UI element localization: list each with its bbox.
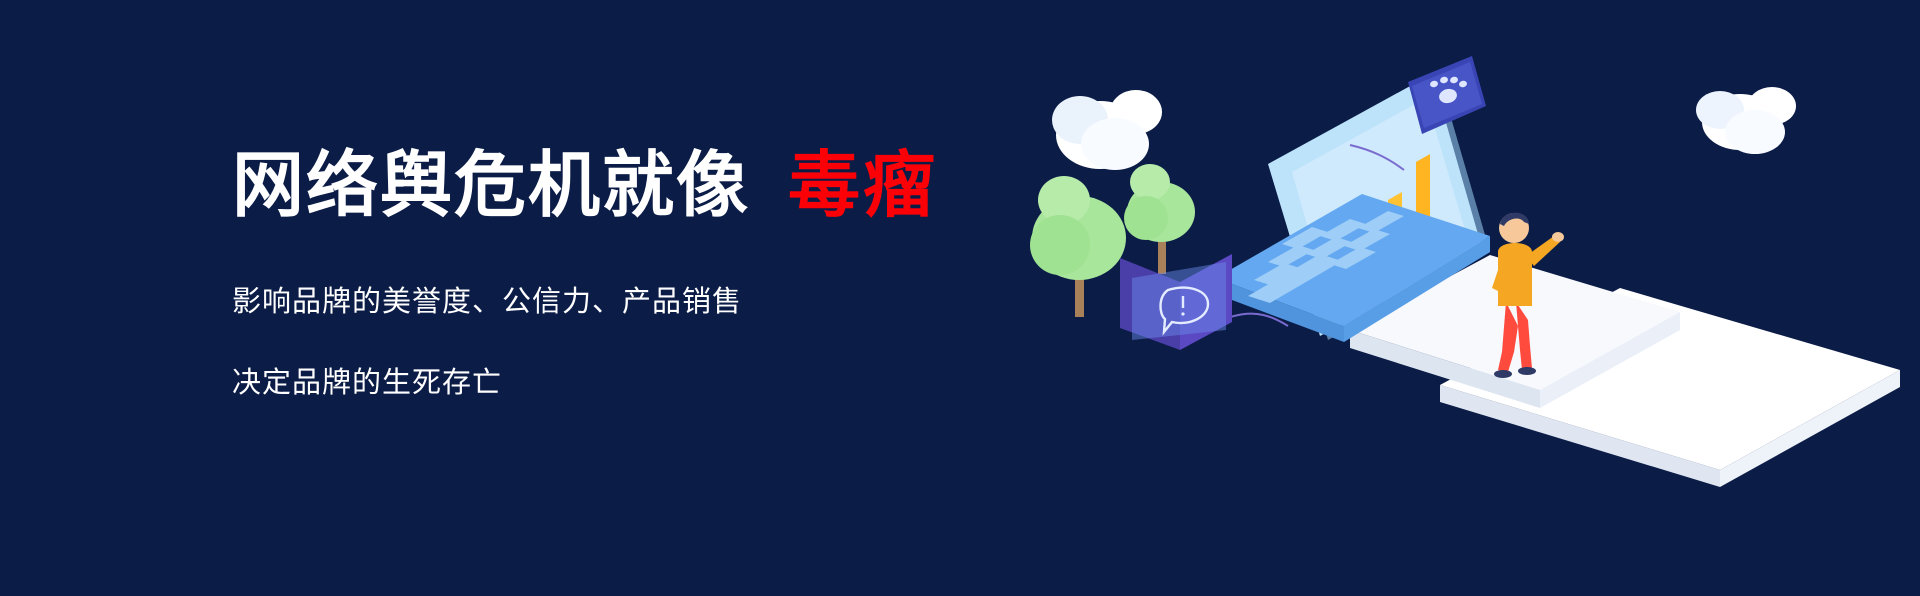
headline-main-text: 网络舆危机就像: [232, 150, 750, 222]
headline-accent-text: 毒瘤: [788, 150, 938, 222]
alert-panel-icon: [1120, 254, 1232, 350]
cloud-right-icon: [1696, 87, 1796, 154]
subtitle-line-2: 决定品牌的生死存亡: [232, 369, 1012, 398]
cloud-left-icon: [1052, 90, 1162, 170]
tree-small-icon: [1124, 164, 1195, 274]
page-title: 网络舆危机就像 毒瘤: [232, 150, 1012, 222]
tree-large-icon: [1030, 176, 1126, 317]
isometric-illustration: [1020, 40, 1900, 560]
paw-panel-icon: [1408, 56, 1486, 134]
promo-banner: 网络舆危机就像 毒瘤 影响品牌的美誉度、公信力、产品销售 决定品牌的生死存亡: [0, 0, 1920, 596]
banner-text-block: 网络舆危机就像 毒瘤 影响品牌的美誉度、公信力、产品销售 决定品牌的生死存亡: [232, 150, 1012, 398]
subtitle-line-1: 影响品牌的美誉度、公信力、产品销售: [232, 288, 1012, 317]
